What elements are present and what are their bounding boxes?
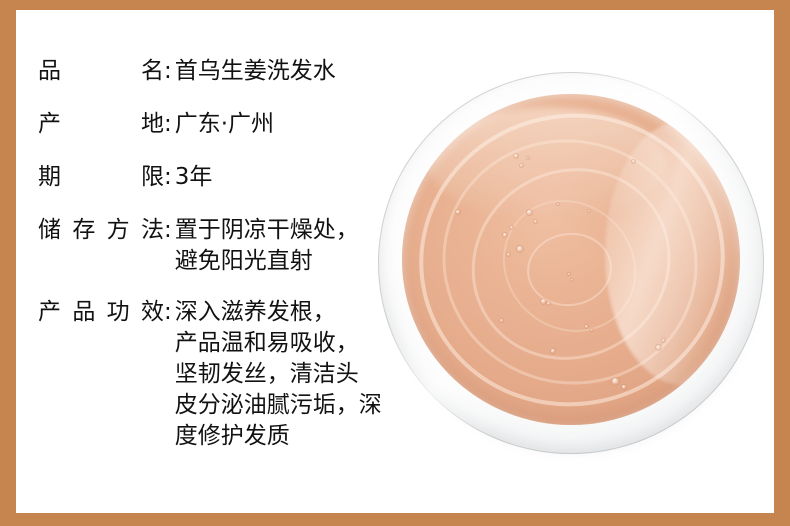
liquid-bubble (588, 210, 590, 212)
liquid-bubble (456, 210, 460, 214)
white-content-card: 品 名 : 首乌生姜洗发水 产 地 : 广东·广州 期 限 : 3年 (16, 10, 774, 513)
liquid-bubble (551, 349, 555, 353)
spec-colon-origin: : (164, 109, 175, 140)
liquid-bubble (656, 345, 661, 350)
liquid-bubble (527, 210, 532, 215)
liquid-bubble (622, 385, 626, 389)
liquid-bubble (591, 329, 593, 331)
product-photo (378, 72, 764, 454)
liquid-bubble (534, 220, 537, 223)
liquid-bubble (500, 319, 503, 322)
liquid-bubble (568, 273, 570, 275)
spec-label-product-name: 品 名 (38, 56, 164, 87)
spec-label-origin: 产 地 (38, 109, 164, 140)
white-ceramic-dish (378, 72, 764, 454)
liquid-bubble (514, 154, 518, 158)
liquid-bubble (662, 339, 665, 342)
liquid-bubble (547, 302, 550, 305)
liquid-swirl-ring (522, 227, 617, 312)
shampoo-liquid (402, 94, 740, 424)
liquid-bubble (541, 299, 546, 304)
liquid-bubble (612, 378, 619, 385)
liquid-bubble (503, 233, 507, 237)
liquid-bubble (510, 226, 513, 229)
liquid-bubble (527, 157, 529, 159)
spec-colon-shelf-life: : (164, 162, 175, 193)
liquid-bubble (585, 325, 588, 328)
liquid-bubble (507, 253, 510, 256)
spec-colon-storage: : (164, 215, 175, 246)
liquid-bubble (520, 164, 523, 167)
spec-colon-efficacy: : (164, 297, 175, 328)
spec-label-shelf-life: 期 限 (38, 162, 164, 193)
liquid-bubble (571, 279, 573, 281)
spec-label-efficacy: 产品功效 (38, 297, 164, 328)
spec-label-storage: 储存方法 (38, 215, 164, 246)
liquid-bubble (517, 246, 523, 252)
spec-colon-product-name: : (164, 56, 175, 87)
product-info-banner: 品 名 : 首乌生姜洗发水 产 地 : 广东·广州 期 限 : 3年 (0, 0, 790, 526)
